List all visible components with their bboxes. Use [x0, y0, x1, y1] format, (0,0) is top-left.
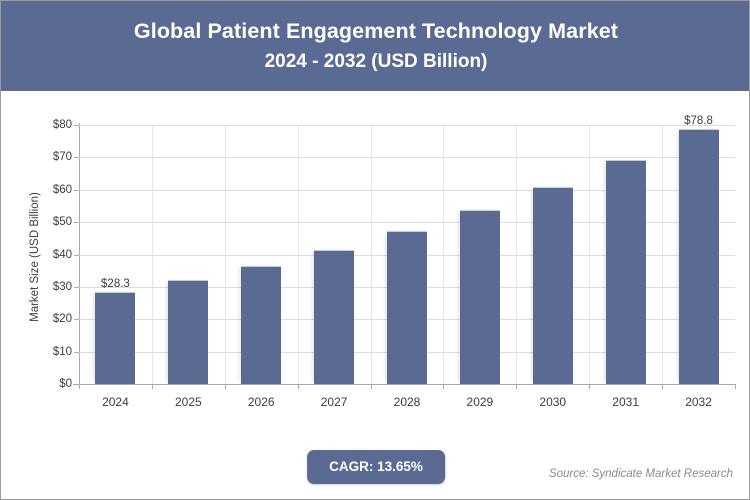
y-axis-tick-mark [74, 190, 79, 191]
y-axis-tick-mark [74, 125, 79, 126]
y-axis-tick-label: $60 [53, 184, 72, 196]
cagr-badge[interactable]: CAGR: 13.65% [307, 450, 445, 484]
y-axis-tick-label: $0 [59, 378, 72, 390]
x-axis-tick-label-2025: 2025 [175, 395, 202, 409]
x-axis-tick-mark [516, 384, 517, 389]
x-axis-tick-mark [371, 384, 372, 389]
bar-2025[interactable] [168, 280, 208, 384]
chart-body: Market Size (USD Billion) $0$10$20$30$40… [1, 91, 750, 500]
page-subtitle: 2024 - 2032 (USD Billion) [265, 49, 488, 75]
x-axis-tick-label-2029: 2029 [467, 395, 494, 409]
y-axis-tick-label: $30 [53, 281, 72, 293]
x-axis-tick-mark [298, 384, 299, 389]
y-axis-tick-mark [74, 255, 79, 256]
gridline-vertical [298, 125, 299, 384]
gridline-vertical [443, 125, 444, 384]
bar-2026[interactable] [241, 266, 281, 384]
y-axis-tick-label: $10 [53, 346, 72, 358]
y-axis-tick-label: $70 [53, 151, 72, 163]
y-axis-tick-label: $20 [53, 313, 72, 325]
page-title: Global Patient Engagement Technology Mar… [134, 17, 618, 46]
x-axis-tick-label-2031: 2031 [612, 395, 639, 409]
y-axis-tick-mark [74, 319, 79, 320]
x-axis-tick-mark [152, 384, 153, 389]
y-axis-title: Market Size (USD Billion) [29, 147, 41, 367]
bar-2024[interactable]: $28.3 [95, 292, 135, 384]
bar-value-label-2032: $78.8 [684, 115, 713, 127]
x-axis-tick-label-2032: 2032 [685, 395, 712, 409]
gridline-vertical [371, 125, 372, 384]
x-axis-tick-mark [735, 384, 736, 389]
y-axis-tick-label: $50 [53, 216, 72, 228]
x-axis-tick-mark [225, 384, 226, 389]
x-axis-tick-label-2030: 2030 [539, 395, 566, 409]
x-axis-tick-label-2028: 2028 [394, 395, 421, 409]
bar-2031[interactable] [606, 160, 646, 384]
x-axis-tick-label-2027: 2027 [321, 395, 348, 409]
x-axis-tick-label-2024: 2024 [102, 395, 129, 409]
y-axis-tick-label: $40 [53, 249, 72, 261]
x-axis-tick-mark [589, 384, 590, 389]
source-note: Source: Syndicate Market Research [549, 468, 733, 480]
bar-2027[interactable] [314, 250, 354, 384]
y-axis-tick-mark [74, 287, 79, 288]
gridline-vertical [225, 125, 226, 384]
bar-value-label-2024: $28.3 [101, 278, 130, 290]
header-band: Global Patient Engagement Technology Mar… [1, 1, 750, 91]
y-axis-tick-mark [74, 352, 79, 353]
plot-area: $0$10$20$30$40$50$60$70$80$28.3202420252… [79, 125, 735, 384]
bar-2030[interactable] [533, 187, 573, 384]
bar-2028[interactable] [387, 231, 427, 384]
gridline-horizontal [79, 125, 735, 126]
bar-2029[interactable] [460, 210, 500, 384]
gridline-vertical [662, 125, 663, 384]
gridline-vertical [589, 125, 590, 384]
x-axis-tick-mark [79, 384, 80, 389]
gridline-vertical [152, 125, 153, 384]
y-axis-tick-label: $80 [53, 119, 72, 131]
gridline-horizontal [79, 157, 735, 158]
market-chart-infographic: Global Patient Engagement Technology Mar… [0, 0, 750, 500]
x-axis-tick-mark [662, 384, 663, 389]
y-axis-tick-mark [74, 157, 79, 158]
bar-2032[interactable]: $78.8 [679, 129, 719, 384]
gridline-vertical [516, 125, 517, 384]
x-axis-line [73, 384, 735, 385]
x-axis-tick-mark [443, 384, 444, 389]
x-axis-tick-label-2026: 2026 [248, 395, 275, 409]
y-axis-tick-mark [74, 222, 79, 223]
